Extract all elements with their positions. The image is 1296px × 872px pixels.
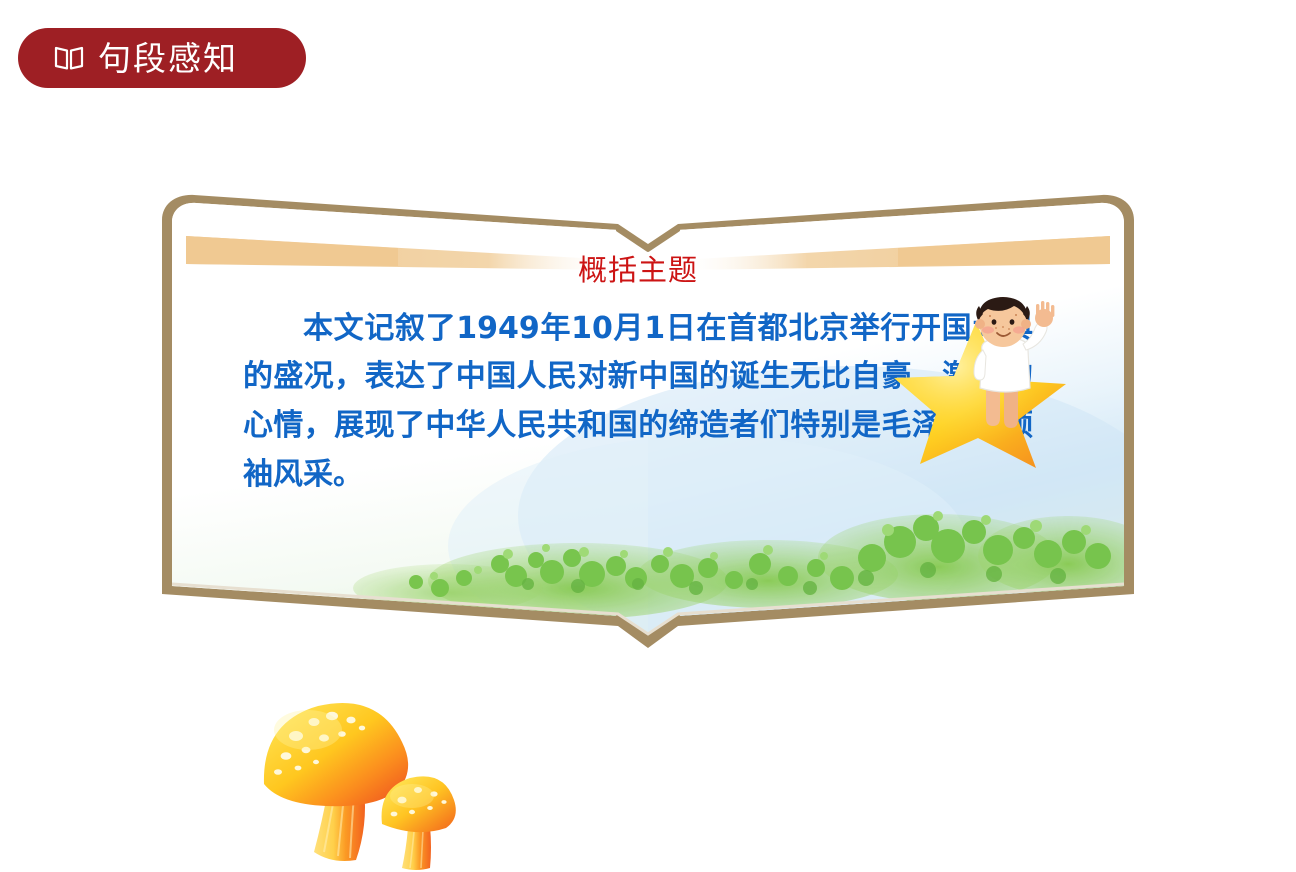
boy-waving-hand (1035, 301, 1054, 327)
boy-right-eye (1010, 319, 1015, 325)
open-book-icon (54, 45, 84, 71)
boy-left-blush (982, 326, 994, 333)
boy-right-leg (1004, 388, 1018, 428)
boy-figure (974, 297, 1054, 428)
star-highlight (894, 322, 1066, 468)
mushroom-illustration (256, 672, 496, 872)
section-title-label: 句段感知 (98, 42, 238, 75)
boy-right-blush (1013, 326, 1025, 333)
summary-heading: 概括主题 (243, 255, 1033, 287)
boy-shirt (980, 339, 1030, 392)
boy-left-eye (992, 319, 997, 325)
small-cap-highlight (390, 784, 434, 808)
boy-left-ear (975, 319, 985, 329)
large-cap-highlight (274, 710, 342, 750)
star-with-boy-illustration (890, 292, 1110, 472)
small-mushroom-stem (402, 826, 431, 870)
boy-left-leg (986, 388, 1000, 426)
section-title-badge: 句段感知 (18, 28, 306, 88)
